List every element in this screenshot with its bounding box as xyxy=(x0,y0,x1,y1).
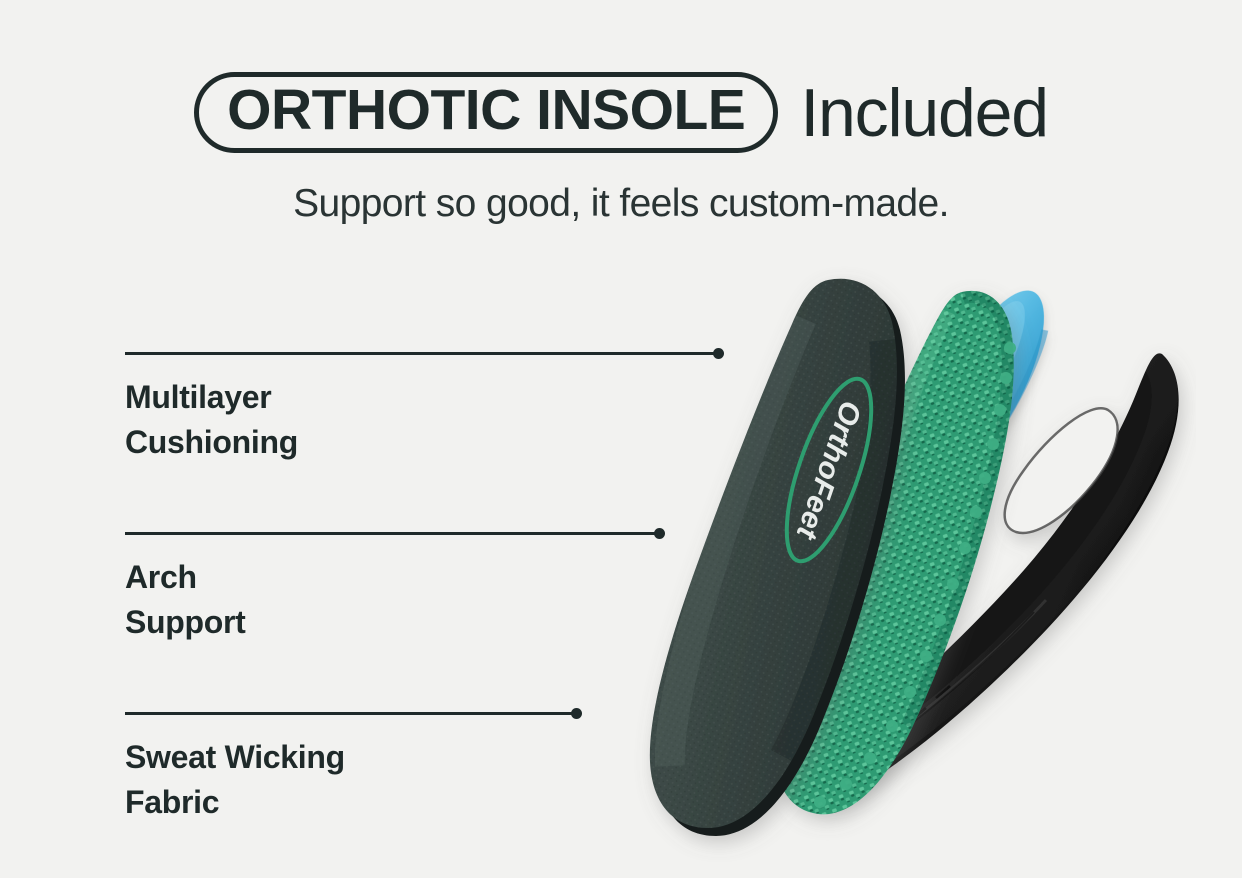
subtitle: Support so good, it feels custom-made. xyxy=(0,182,1242,226)
leader-line-stroke xyxy=(125,532,656,535)
feature-label: Arch Support xyxy=(125,555,246,646)
feature-callout-arch-support: Arch Support xyxy=(125,528,246,646)
leader-line-stroke xyxy=(125,712,573,715)
callout-leader-line xyxy=(125,528,246,539)
headline: ORTHOTIC INSOLE Included xyxy=(0,72,1242,153)
feature-callout-multilayer-cushioning: Multilayer Cushioning xyxy=(125,348,298,466)
callout-leader-line xyxy=(125,708,345,719)
infographic-canvas: ORTHOTIC INSOLE Included Support so good… xyxy=(0,0,1242,878)
callout-leader-line xyxy=(125,348,298,359)
feature-label: Sweat Wicking Fabric xyxy=(125,735,345,826)
leader-line-dot xyxy=(571,708,582,719)
feature-callout-sweat-wicking-fabric: Sweat Wicking Fabric xyxy=(125,708,345,826)
headline-suffix: Included xyxy=(800,79,1048,147)
orthotic-insole-badge: ORTHOTIC INSOLE xyxy=(194,72,778,153)
feature-label: Multilayer Cushioning xyxy=(125,375,298,466)
badge-label: ORTHOTIC INSOLE xyxy=(227,82,745,139)
product-image: OrthoFeet xyxy=(596,262,1196,862)
